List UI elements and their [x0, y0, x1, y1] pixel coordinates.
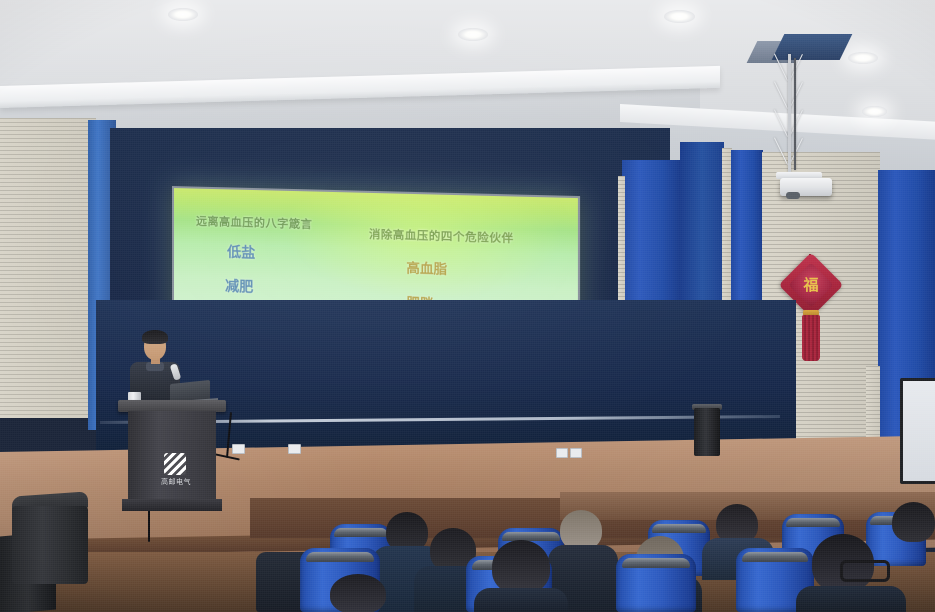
audience-member-head [560, 510, 602, 550]
podium-front-panel: 高邮电气 [128, 411, 216, 501]
striped-square-logo [164, 453, 186, 475]
slide-left-item: 减肥 [225, 276, 253, 297]
audience-member-shoulders [474, 588, 568, 612]
downlight-icon [862, 106, 887, 117]
audience-member-head [330, 574, 386, 612]
fortune-character: 福 [795, 271, 827, 299]
downlight-icon [458, 28, 488, 41]
scissor-lift-mount [768, 54, 828, 176]
audience-member-shoulders [796, 586, 906, 612]
wall-display-board [900, 378, 935, 484]
podium-base [122, 499, 222, 511]
wall-power-outlet[interactable] [288, 444, 301, 454]
auditorium-seat-headrest [502, 532, 560, 541]
auditorium-seat-headrest [306, 552, 374, 562]
auditorium-seat-headrest [786, 518, 840, 527]
slide-left-title: 远离高血压的八字箴言 [196, 213, 312, 232]
lectern-podium: 高邮电气 [118, 400, 226, 515]
podium-logo-text: 高邮电气 [154, 477, 198, 486]
wall-power-outlet[interactable] [232, 444, 245, 454]
downlight-icon [848, 52, 878, 64]
knot-tassel [802, 315, 820, 361]
audience-member-glasses [840, 560, 890, 582]
auditorium-seat-headrest [622, 558, 690, 568]
audience-member-head [892, 502, 935, 542]
presenter-hair [142, 330, 168, 344]
auditorium-seat-headrest [652, 524, 706, 533]
slide-right-item: 高血脂 [406, 257, 447, 278]
downlight-icon [664, 10, 695, 23]
wall-power-outlet[interactable] [570, 448, 582, 458]
floor-speaker [8, 494, 92, 586]
slide-left-item: 低盐 [227, 242, 255, 263]
wall-power-outlet[interactable] [556, 448, 568, 458]
wall-texture-panel-left [0, 118, 96, 418]
downlight-icon [168, 8, 198, 21]
floor-equipment-cabinet [694, 408, 720, 456]
speaker-front-grille [12, 506, 88, 584]
auditorium-seat-headrest [742, 552, 808, 562]
auditorium-photo-scene: 远离高血压的八字箴言 消除高血压的四个危险伙伴 低盐 减肥 减压 限酒 高血脂 … [0, 0, 935, 612]
audience-member-head [492, 540, 550, 594]
projector-lens [786, 192, 800, 199]
auditorium-seat-headrest [334, 528, 388, 537]
